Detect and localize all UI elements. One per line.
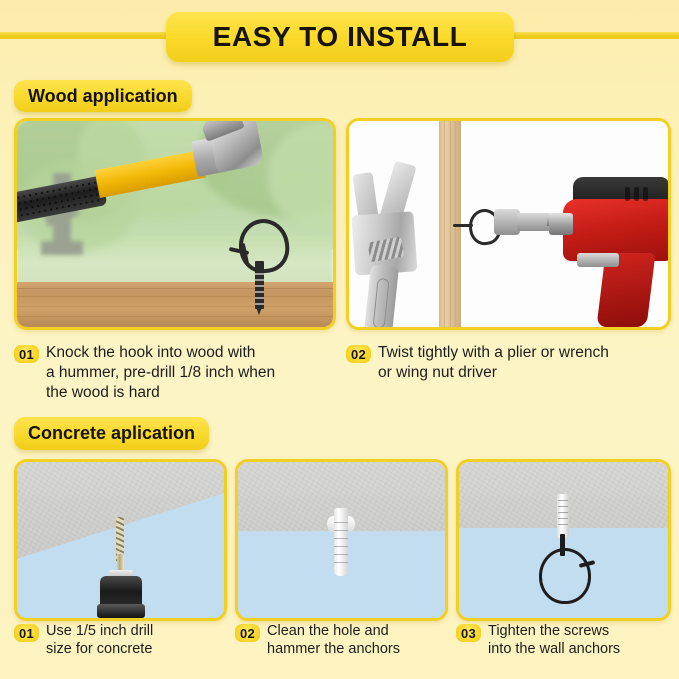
install-guide-infographic: EASY TO INSTALL Wood application — [0, 0, 679, 679]
step-image-wall-anchor — [235, 459, 448, 621]
anchor-rib — [558, 500, 568, 501]
step-number-badge: 02 — [235, 624, 260, 642]
scene-wall-anchor — [238, 462, 445, 618]
hook-screw-shank — [255, 261, 264, 309]
anchor-rib — [334, 546, 348, 547]
section-chip-wood-label: Wood application — [28, 86, 178, 107]
anchor-rib — [558, 512, 568, 513]
anchor-rib — [558, 524, 568, 525]
anchor-rib — [334, 562, 348, 563]
step-number-badge: 01 — [14, 345, 39, 363]
socket-extension — [517, 213, 551, 231]
anchor-rib — [334, 530, 348, 531]
drill-chuck — [549, 213, 573, 235]
anchor-rib — [334, 522, 348, 523]
screw-thread — [255, 297, 264, 299]
wrench-handle — [364, 264, 399, 330]
page-title-badge: EASY TO INSTALL — [166, 12, 514, 62]
section-chip-concrete: Concrete aplication — [14, 417, 209, 450]
adjustable-wrench — [346, 158, 464, 330]
drill-vent — [625, 187, 630, 201]
wrench-handle-slot — [373, 277, 389, 328]
drill-vent — [634, 187, 639, 201]
step-caption-01-wood: 01 Knock the hook into wood with a humme… — [14, 343, 334, 402]
hammer-grip — [14, 175, 107, 223]
section-chip-concrete-label: Concrete aplication — [28, 423, 195, 444]
step-caption-03-concrete: 03 Tighten the screws into the wall anch… — [456, 622, 676, 659]
hook-latch-gate — [453, 224, 473, 227]
cordless-drill-driver — [563, 177, 671, 327]
step-number-badge: 01 — [14, 624, 39, 642]
step-image-hammer-hook-wood — [14, 118, 336, 330]
scene-hook-in-anchor — [459, 462, 668, 618]
step-caption-text: Tighten the screws into the wall anchors — [488, 622, 620, 659]
header: EASY TO INSTALL — [0, 0, 679, 72]
drill-chuck-ring — [97, 604, 145, 618]
screw-thread — [255, 291, 264, 293]
plastic-wall-anchor — [557, 494, 569, 538]
anchor-rib — [334, 538, 348, 539]
anchor-rib — [558, 518, 568, 519]
drill-bit-holder — [577, 253, 619, 267]
step-caption-text: Twist tightly with a plier or wrench or … — [378, 343, 609, 383]
scene-wood-outdoor — [17, 121, 333, 327]
screw-thread — [255, 285, 264, 287]
anchor-rib — [558, 506, 568, 507]
screw-thread — [255, 303, 264, 305]
step-caption-02-concrete: 02 Clean the hole and hammer the anchors — [235, 622, 453, 659]
hook-ring — [539, 548, 591, 604]
step-caption-text: Clean the hole and hammer the anchors — [267, 622, 400, 659]
plastic-wall-anchor — [334, 508, 348, 576]
scene-drill-concrete — [17, 462, 224, 618]
page-title: EASY TO INSTALL — [213, 23, 468, 51]
step-image-wrench-drill — [346, 118, 671, 330]
screw-tip — [256, 307, 262, 315]
screw-hook — [229, 219, 293, 319]
drill-vent — [643, 187, 648, 201]
step-caption-text: Use 1/5 inch drill size for concrete — [46, 622, 153, 659]
screw-thread — [255, 273, 264, 275]
step-number-badge: 02 — [346, 345, 371, 363]
anchor-rib — [334, 554, 348, 555]
screw-thread — [255, 279, 264, 281]
step-number-badge: 03 — [456, 624, 481, 642]
step-caption-01-concrete: 01 Use 1/5 inch drill size for concrete — [14, 622, 229, 659]
hammer-shaft — [95, 150, 206, 198]
step-image-drill-concrete — [14, 459, 227, 621]
step-caption-02-wood: 02 Twist tightly with a plier or wrench … — [346, 343, 671, 383]
hammer-grip-texture — [14, 179, 104, 220]
scene-wrench-drill — [349, 121, 668, 327]
step-caption-text: Knock the hook into wood with a hummer, … — [46, 343, 275, 402]
drill-body — [563, 199, 671, 261]
section-chip-wood: Wood application — [14, 80, 192, 112]
step-image-hook-in-anchor — [456, 459, 671, 621]
